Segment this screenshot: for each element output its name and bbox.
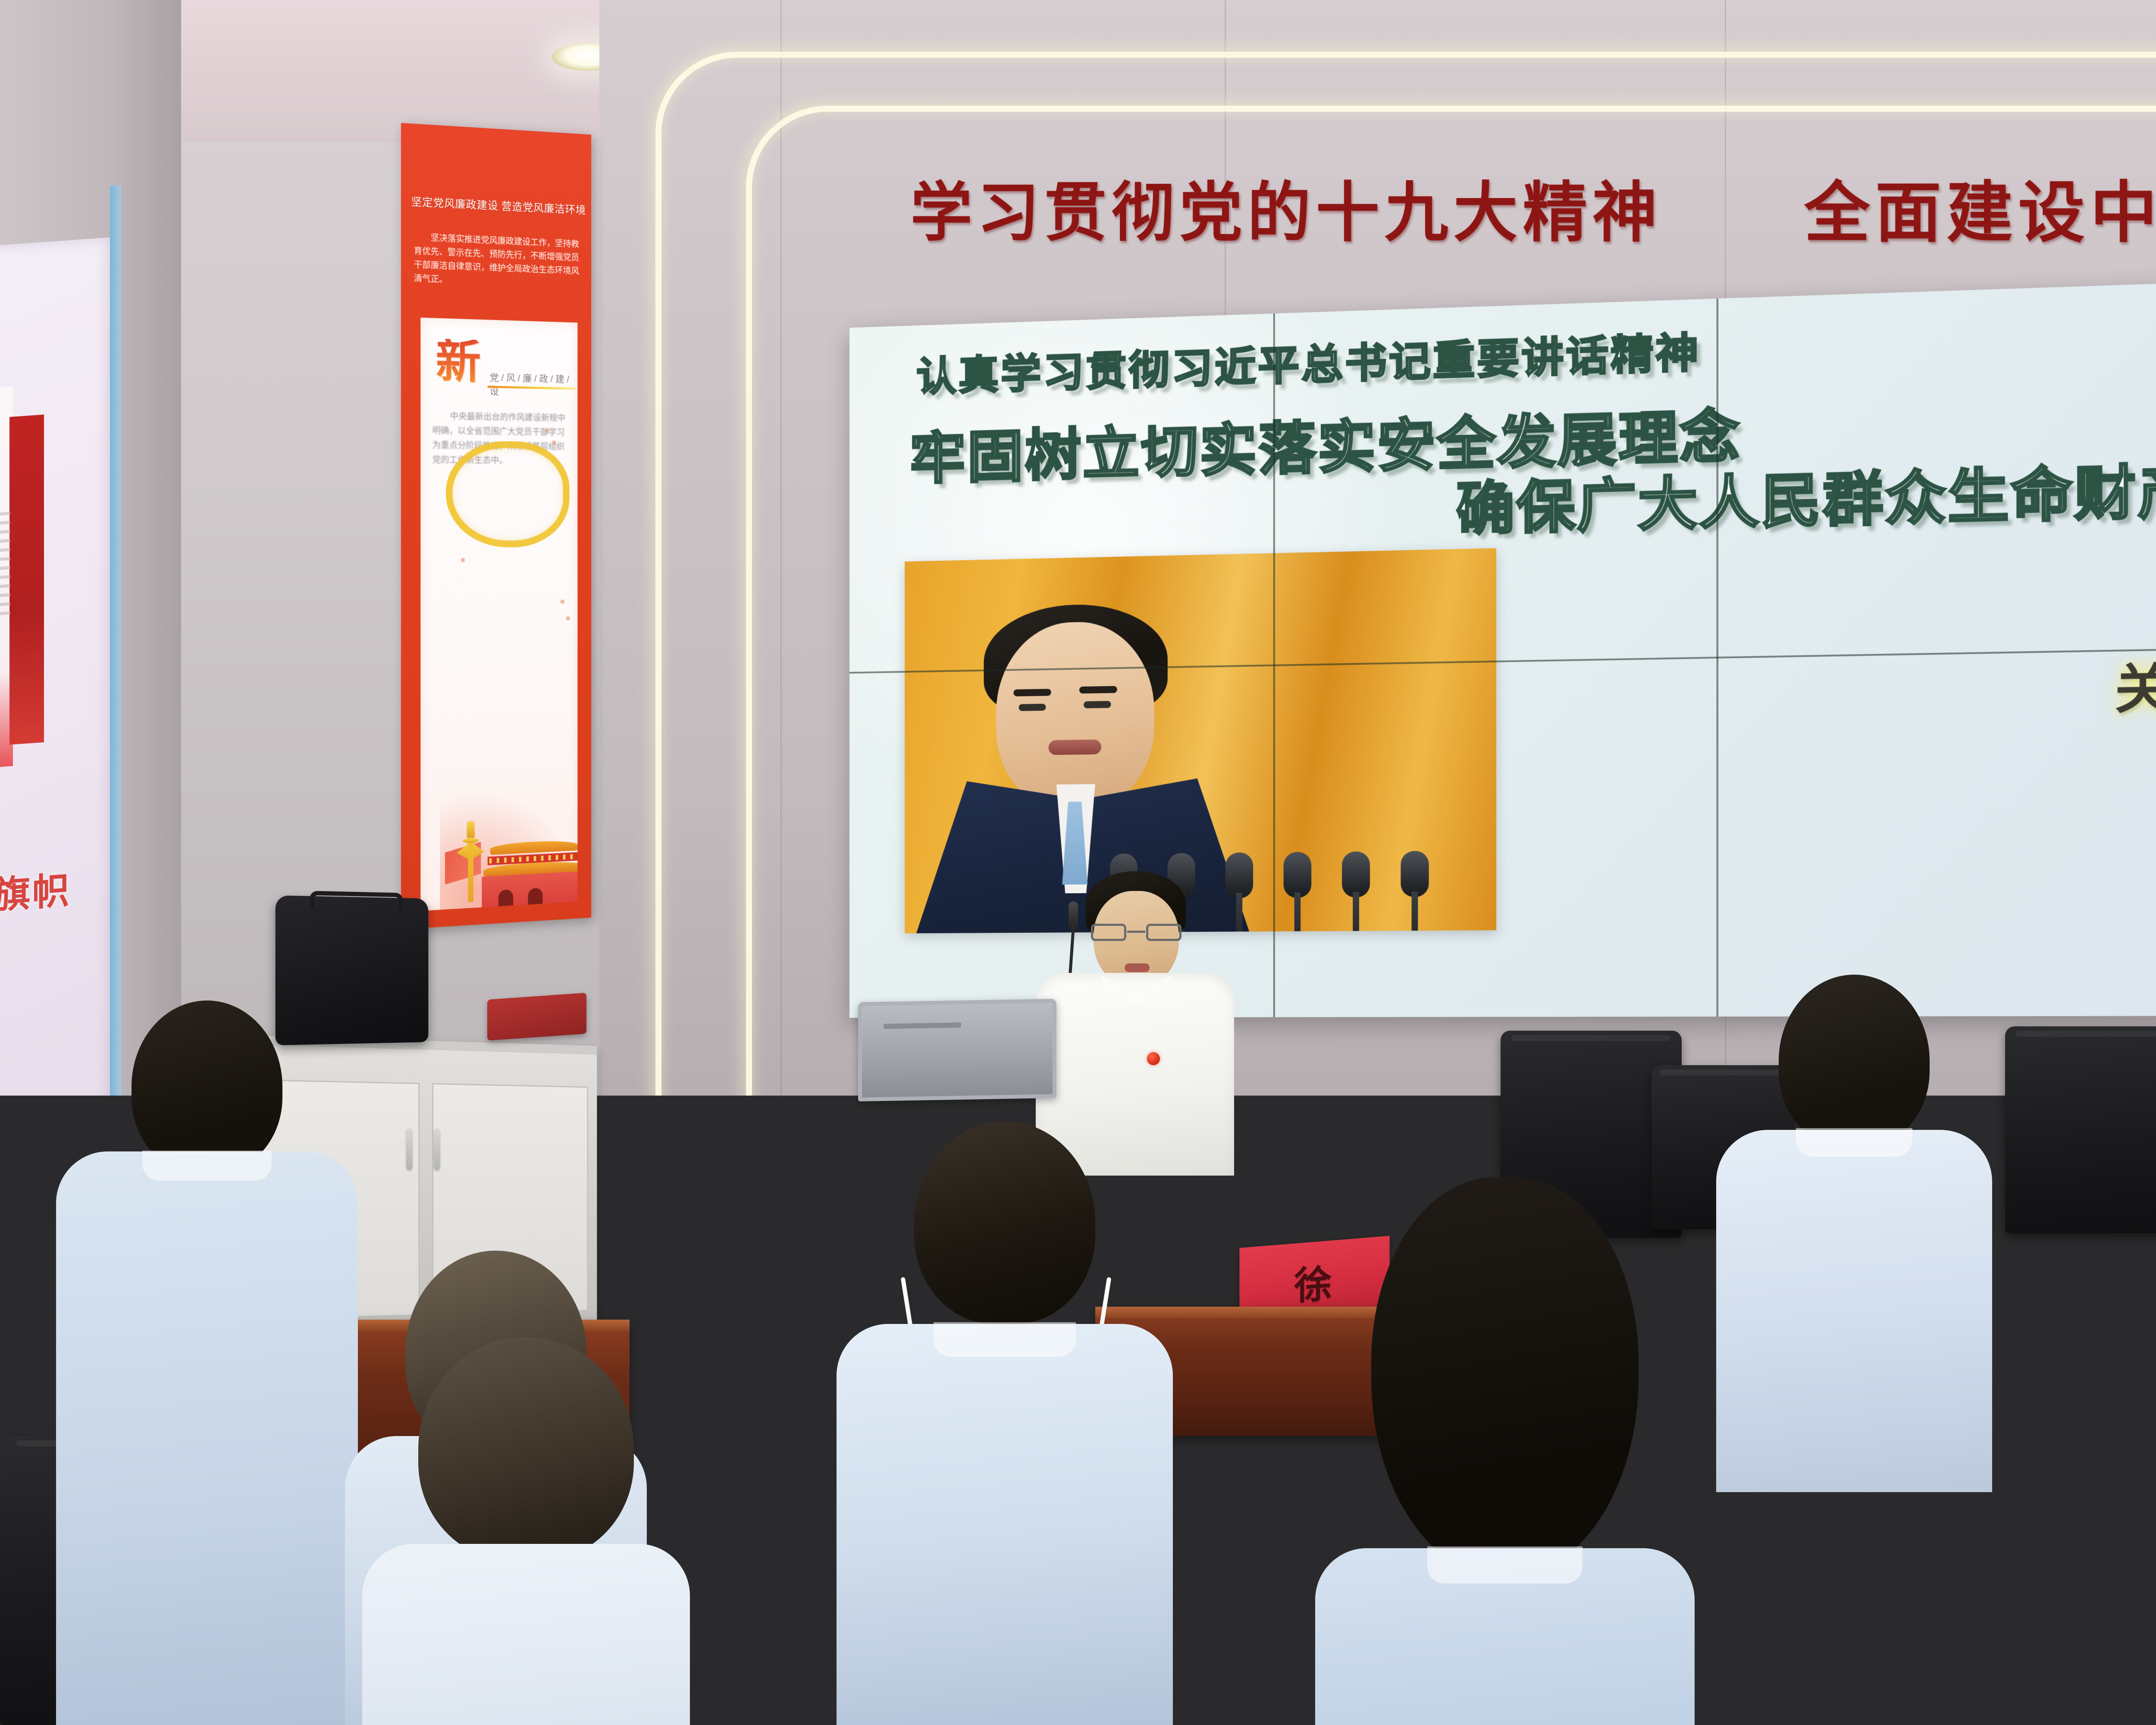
- party-emblem-pin-icon: [1147, 1052, 1160, 1065]
- party-banner-body: 坚决落实推进党风廉政建设工作，坚持教育优先、警示在先、预防先行，不断增强党员干部…: [414, 230, 584, 292]
- poster-text-lines: [0, 512, 10, 657]
- slide-right-line-2: 关于安全生产工作: [2115, 644, 2156, 728]
- party-banner-card: 新 党/风/廉/政/建/设 中央最新出台的作风建设新规中明确，以全省范围广大党员…: [420, 317, 577, 911]
- conference-room-scene: 学习贯彻党的十九大精神 全面建设中国特色社会主义 旗帜 坚定党风廉政建设 营造党…: [0, 0, 2156, 1725]
- tiananmen-gate-icon: [440, 765, 577, 911]
- poster-red-bar: [9, 414, 44, 745]
- left-screen-caption: 旗帜: [0, 860, 71, 919]
- gold-seal-circle-icon: [446, 440, 570, 547]
- audience-center: [837, 1121, 1173, 1725]
- ponytail-hair: [1371, 1177, 1639, 1578]
- glasses-icon: [1091, 924, 1181, 943]
- wall-banner-title: 学习贯彻党的十九大精神 全面建设中国特色社会主义: [910, 158, 2156, 256]
- audience-center-front: [362, 1337, 690, 1725]
- wall-banner-left-text: 学习贯彻党的十九大精神: [910, 160, 1662, 254]
- card-subtitle: 党/风/廉/政/建/设: [490, 370, 578, 399]
- audience-woman-ponytail: [1315, 1177, 1695, 1725]
- slide-line-1: 认真学习贯彻习近平总书记重要讲话精神: [916, 319, 1701, 402]
- audience-right: [1716, 975, 1992, 1492]
- presenter-laptop[interactable]: [858, 999, 1056, 1101]
- cabinet-handle-right[interactable]: [434, 1129, 440, 1170]
- big-character-xin: 新: [436, 339, 481, 386]
- audience-left-front: [56, 1000, 358, 1725]
- party-propaganda-banner: 坚定党风廉政建设 营造党风廉洁环境 坚决落实推进党风廉政建设工作，坚持教育优先、…: [401, 123, 591, 929]
- slide-right-line-3: 论述摘编: [2115, 721, 2156, 803]
- wall-banner-right-text: 全面建设中国特色社会主义: [1804, 158, 2156, 256]
- slide-right-line-1: 习近平总书记: [2115, 568, 2156, 653]
- party-banner-headline: 坚定党风廉政建设 营造党风廉洁环境: [411, 194, 587, 219]
- cabinet-handle-left[interactable]: [406, 1129, 413, 1170]
- empty-chair-right[interactable]: [2005, 1026, 2156, 1233]
- desk-notebook[interactable]: [1979, 1289, 2117, 1316]
- huabiao-column-icon: [464, 816, 477, 902]
- slide-right-text-block: 习近平总书记 关于安全生产工作 论述摘编: [2115, 568, 2156, 803]
- chair-right-foreground[interactable]: [1910, 1475, 2156, 1725]
- red-folder-box[interactable]: [487, 993, 586, 1041]
